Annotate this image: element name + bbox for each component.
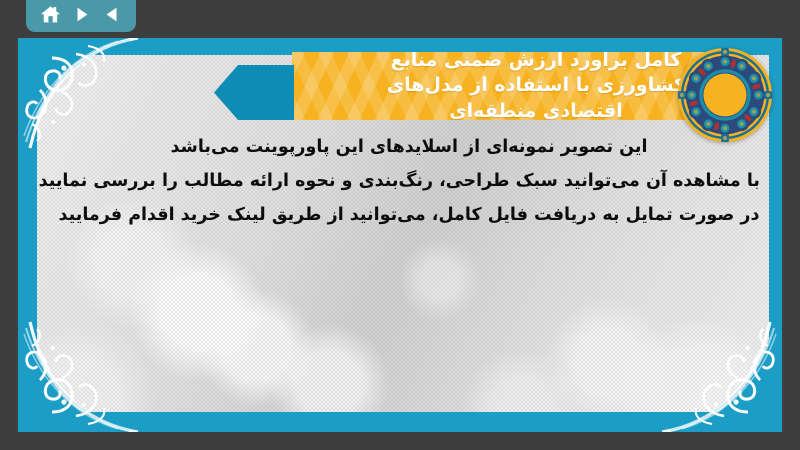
next-triangle-icon bbox=[72, 5, 91, 24]
home-button[interactable] bbox=[37, 1, 63, 27]
slide-body-text: این تصویر نمونه‌ای از اسلایدهای این پاور… bbox=[58, 130, 760, 232]
body-line: در صورت تمایل به دریافت فایل کامل، می‌تو… bbox=[58, 198, 760, 232]
persian-medallion-icon bbox=[676, 46, 774, 144]
home-icon bbox=[40, 4, 61, 25]
body-line: با مشاهده آن می‌توانید سبک طراحی، رنگ‌بن… bbox=[58, 164, 760, 198]
page-title: کامل برآورد ارزش ضمنی منابع کشاورزی با ا… bbox=[292, 52, 742, 120]
navigation-controls bbox=[26, 0, 136, 32]
body-line: این تصویر نمونه‌ای از اسلایدهای این پاور… bbox=[58, 130, 760, 164]
prev-button[interactable] bbox=[99, 1, 125, 27]
slide-title-banner: کامل برآورد ارزش ضمنی منابع کشاورزی با ا… bbox=[292, 52, 742, 120]
next-button[interactable] bbox=[68, 1, 94, 27]
prev-triangle-icon bbox=[103, 5, 122, 24]
title-banner-background: کامل برآورد ارزش ضمنی منابع کشاورزی با ا… bbox=[292, 52, 742, 120]
slide-card: کامل برآورد ارزش ضمنی منابع کشاورزی با ا… bbox=[18, 38, 782, 432]
slide-stage: کامل برآورد ارزش ضمنی منابع کشاورزی با ا… bbox=[0, 0, 800, 450]
